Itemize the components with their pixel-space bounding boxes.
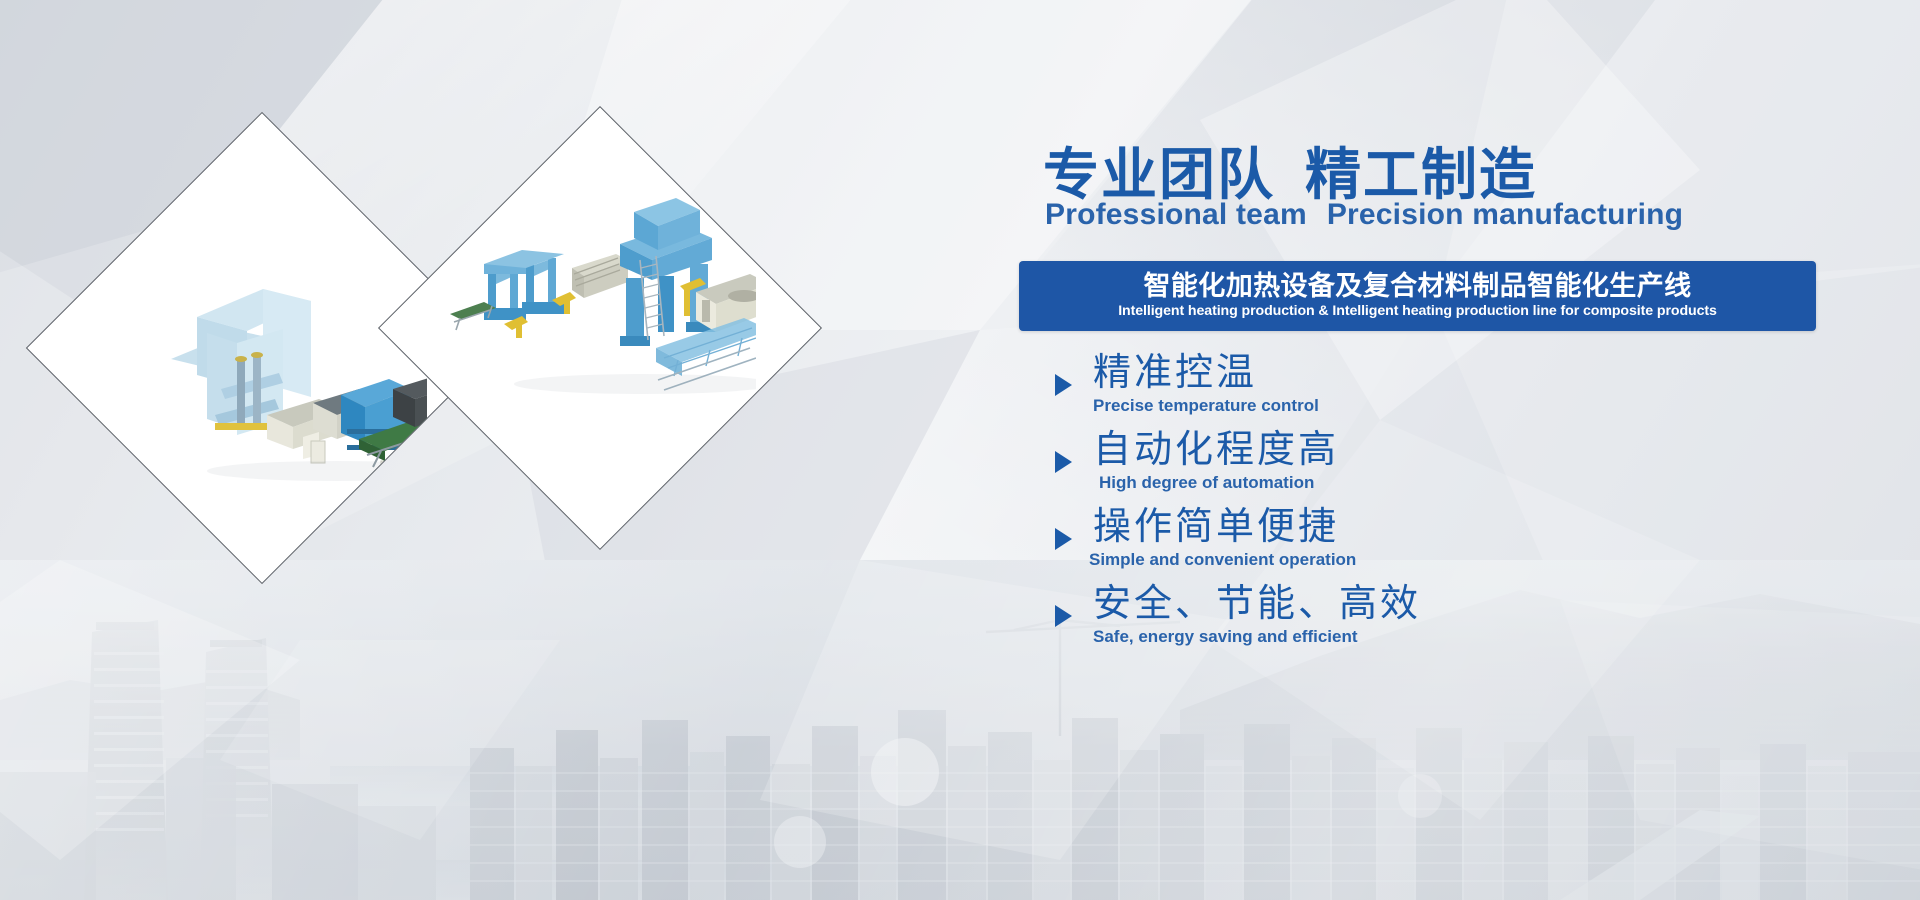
headline-cn-left: 专业团队 bbox=[1043, 143, 1275, 206]
headline-chinese: 专业团队精工制造 bbox=[1043, 146, 1903, 204]
feature-list: 精准控温 Precise temperature control 自动化程度高 … bbox=[1043, 352, 1903, 660]
triangle-right-icon bbox=[1055, 528, 1072, 550]
feature-label-chinese: 安全、节能、高效 bbox=[1093, 583, 1421, 627]
banner-content: 专业团队精工制造 Professional teamPrecision manu… bbox=[1043, 0, 1903, 900]
headline-english: Professional teamPrecision manufacturing bbox=[1045, 198, 1905, 231]
feature-label-english: Simple and convenient operation bbox=[1089, 550, 1356, 570]
feature-item: 操作简单便捷 Simple and convenient operation bbox=[1043, 506, 1903, 583]
product-title-chinese: 智能化加热设备及复合材料制品智能化生产线 bbox=[1031, 271, 1804, 301]
triangle-right-icon bbox=[1055, 374, 1072, 396]
feature-label-english: Safe, energy saving and efficient bbox=[1093, 627, 1358, 647]
feature-label-chinese: 操作简单便捷 bbox=[1093, 506, 1339, 550]
headline-en-left: Professional team bbox=[1045, 198, 1307, 231]
feature-label-english: High degree of automation bbox=[1099, 473, 1314, 493]
feature-item: 精准控温 Precise temperature control bbox=[1043, 352, 1903, 429]
banner-stage: 专业团队精工制造 Professional teamPrecision manu… bbox=[0, 0, 1920, 900]
product-title-english: Intelligent heating production & Intelli… bbox=[1031, 303, 1804, 321]
feature-label-chinese: 自动化程度高 bbox=[1093, 429, 1339, 473]
feature-label-english: Precise temperature control bbox=[1093, 396, 1319, 416]
product-title-bar: 智能化加热设备及复合材料制品智能化生产线 Intelligent heating… bbox=[1019, 261, 1816, 331]
triangle-right-icon bbox=[1055, 605, 1072, 627]
headline-cn-right: 精工制造 bbox=[1305, 143, 1537, 206]
feature-item: 自动化程度高 High degree of automation bbox=[1043, 429, 1903, 506]
headline-en-right: Precision manufacturing bbox=[1327, 198, 1683, 231]
feature-item: 安全、节能、高效 Safe, energy saving and efficie… bbox=[1043, 583, 1903, 660]
triangle-right-icon bbox=[1055, 451, 1072, 473]
feature-label-chinese: 精准控温 bbox=[1093, 352, 1257, 396]
